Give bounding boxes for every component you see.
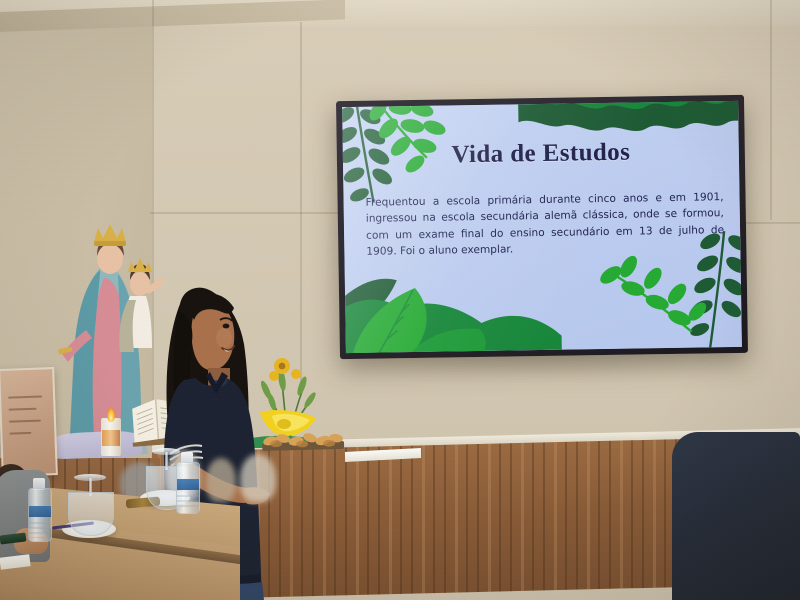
wood-grain-line [653, 440, 656, 600]
wood-grain-line [378, 446, 380, 600]
tv-screen: Vida de Estudos Frequentou a escola prim… [342, 101, 742, 353]
wood-grain-line [477, 444, 479, 600]
wood-grain-line [598, 441, 600, 600]
wood-grain-line [411, 446, 413, 600]
wood-grain-line [334, 448, 336, 600]
wood-grain-line [543, 442, 545, 600]
candle-flame-icon [107, 408, 115, 422]
wood-grain-line [576, 442, 578, 600]
bottle-body [28, 488, 52, 542]
wood-grain-line [367, 447, 369, 600]
wood-grain-line [455, 445, 458, 600]
wall-seam [300, 22, 302, 382]
wall-seam [150, 212, 340, 214]
wood-grain-line [488, 444, 491, 600]
wood-grain-line [521, 443, 524, 600]
bottle-body [176, 462, 200, 514]
bottle-label [177, 479, 199, 490]
wood-grain-line [664, 439, 666, 599]
person-right-edge [672, 432, 800, 600]
water-bottle [176, 452, 198, 512]
votive-candle [101, 418, 121, 456]
glass-bowl [68, 492, 114, 536]
background-person-silhouette [206, 458, 236, 502]
wood-grain-line [400, 446, 402, 600]
wood-grain-line [323, 448, 326, 600]
wood-grain-line [422, 445, 425, 600]
photo-scene: Vida de Estudos Frequentou a escola prim… [0, 0, 800, 600]
framed-picture [0, 367, 58, 477]
presentation-slide: Vida de Estudos Frequentou a escola prim… [342, 101, 742, 353]
tropical-leaves-bottom-left-icon [342, 252, 562, 353]
slide-title: Vida de Estudos [343, 137, 739, 171]
television[interactable]: Vida de Estudos Frequentou a escola prim… [336, 95, 748, 359]
wood-grain-line [510, 443, 512, 600]
wood-grain-line [389, 446, 392, 600]
wood-grain-line [345, 447, 347, 600]
wood-grain-line [609, 441, 611, 600]
wood-grain-line [620, 440, 623, 600]
wood-grain-line [444, 445, 446, 600]
wood-grain-line [466, 444, 468, 600]
wood-grain-line [554, 442, 557, 600]
wood-grain-line [587, 441, 590, 600]
bottle-label [29, 506, 51, 517]
bottle-ribs [177, 495, 199, 510]
bottle-ribs [29, 522, 51, 538]
wine-glass [68, 478, 112, 536]
wood-grain-line [499, 443, 501, 600]
wood-grain-line [532, 443, 534, 600]
slide-body-text: Frequentou a escola primária durante cin… [365, 189, 724, 260]
wood-grain-line [631, 440, 633, 600]
wood-grain-line [642, 440, 644, 600]
wall-seam [770, 0, 772, 220]
water-bottle [28, 478, 50, 540]
wood-grain-line [433, 445, 435, 600]
wood-grain-line [565, 442, 567, 600]
wood-grain-line [356, 447, 359, 600]
background-person-silhouette [240, 454, 276, 502]
